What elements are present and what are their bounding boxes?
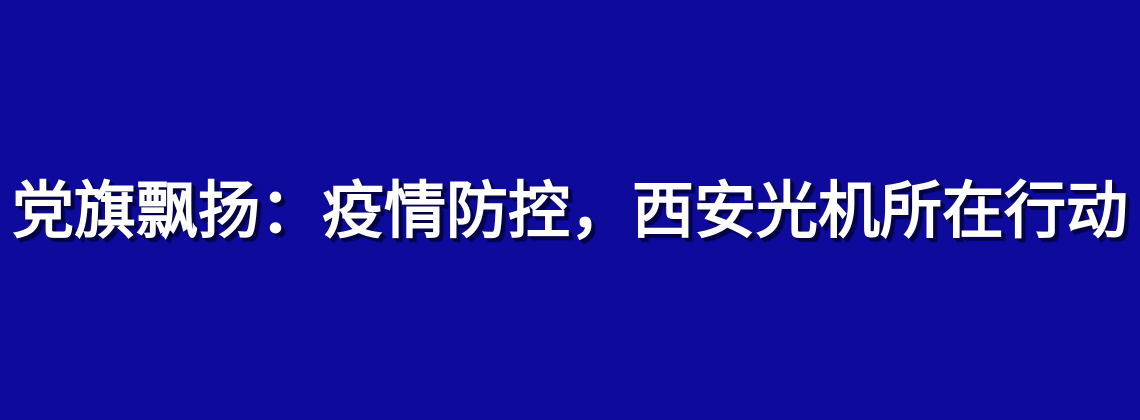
- banner-container: 党旗飘扬：疫情防控，西安光机所在行动: [0, 0, 1140, 420]
- banner-title: 党旗飘扬：疫情防控，西安光机所在行动: [0, 180, 1140, 242]
